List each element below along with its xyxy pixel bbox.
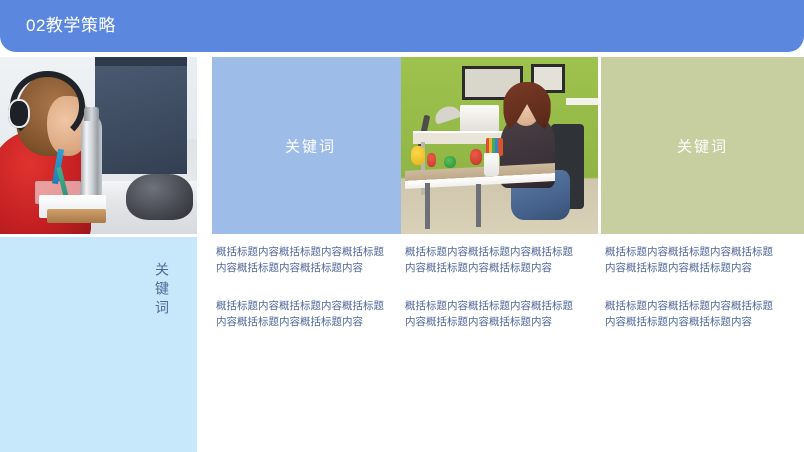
paragraph: 概括标题内容概括标题内容概括标题内容概括标题内容概括标题内容 bbox=[216, 245, 388, 276]
column-4: 关键词 概括标题内容概括标题内容概括标题内容概括标题内容概括标题内容 概括标题内… bbox=[601, 57, 804, 452]
column-2-paragraphs: 概括标题内容概括标题内容概括标题内容概括标题内容概括标题内容 概括标题内容概括标… bbox=[216, 245, 388, 330]
content-columns: 关键词 关键词 概括标题内容概括标题内容概括标题内容概括标题内容概括标题内容 概… bbox=[0, 57, 804, 452]
column-1: 关键词 bbox=[0, 57, 197, 452]
column-2: 关键词 概括标题内容概括标题内容概括标题内容概括标题内容概括标题内容 概括标题内… bbox=[212, 57, 409, 452]
keyword-panel-vertical: 关键词 bbox=[0, 237, 197, 452]
paragraph: 概括标题内容概括标题内容概括标题内容概括标题内容概括标题内容 bbox=[216, 299, 388, 330]
page-title: 02教学策略 bbox=[26, 14, 116, 38]
keyword-label-blue: 关键词 bbox=[212, 135, 409, 156]
keyword-block-green: 关键词 bbox=[601, 57, 804, 234]
paragraph: 概括标题内容概括标题内容概括标题内容概括标题内容概括标题内容 bbox=[405, 245, 577, 276]
paragraph: 概括标题内容概括标题内容概括标题内容概括标题内容概括标题内容 bbox=[605, 245, 783, 276]
paragraph: 概括标题内容概括标题内容概括标题内容概括标题内容概括标题内容 bbox=[405, 299, 577, 330]
column-3-paragraphs: 概括标题内容概括标题内容概括标题内容概括标题内容概括标题内容 概括标题内容概括标… bbox=[405, 245, 577, 330]
column-3: 概括标题内容概括标题内容概括标题内容概括标题内容概括标题内容 概括标题内容概括标… bbox=[401, 57, 598, 452]
keyword-label-vertical: 关键词 bbox=[155, 262, 175, 319]
column-4-paragraphs: 概括标题内容概括标题内容概括标题内容概括标题内容概括标题内容 概括标题内容概括标… bbox=[605, 245, 783, 330]
paragraph: 概括标题内容概括标题内容概括标题内容概括标题内容概括标题内容 bbox=[605, 299, 783, 330]
keyword-block-blue: 关键词 bbox=[212, 57, 409, 234]
slide-header-bar: 02教学策略 bbox=[0, 0, 804, 52]
keyword-label-green: 关键词 bbox=[601, 135, 804, 156]
boy-with-headphones-studying-photo bbox=[0, 57, 197, 234]
woman-at-craft-table-photo bbox=[401, 57, 598, 234]
